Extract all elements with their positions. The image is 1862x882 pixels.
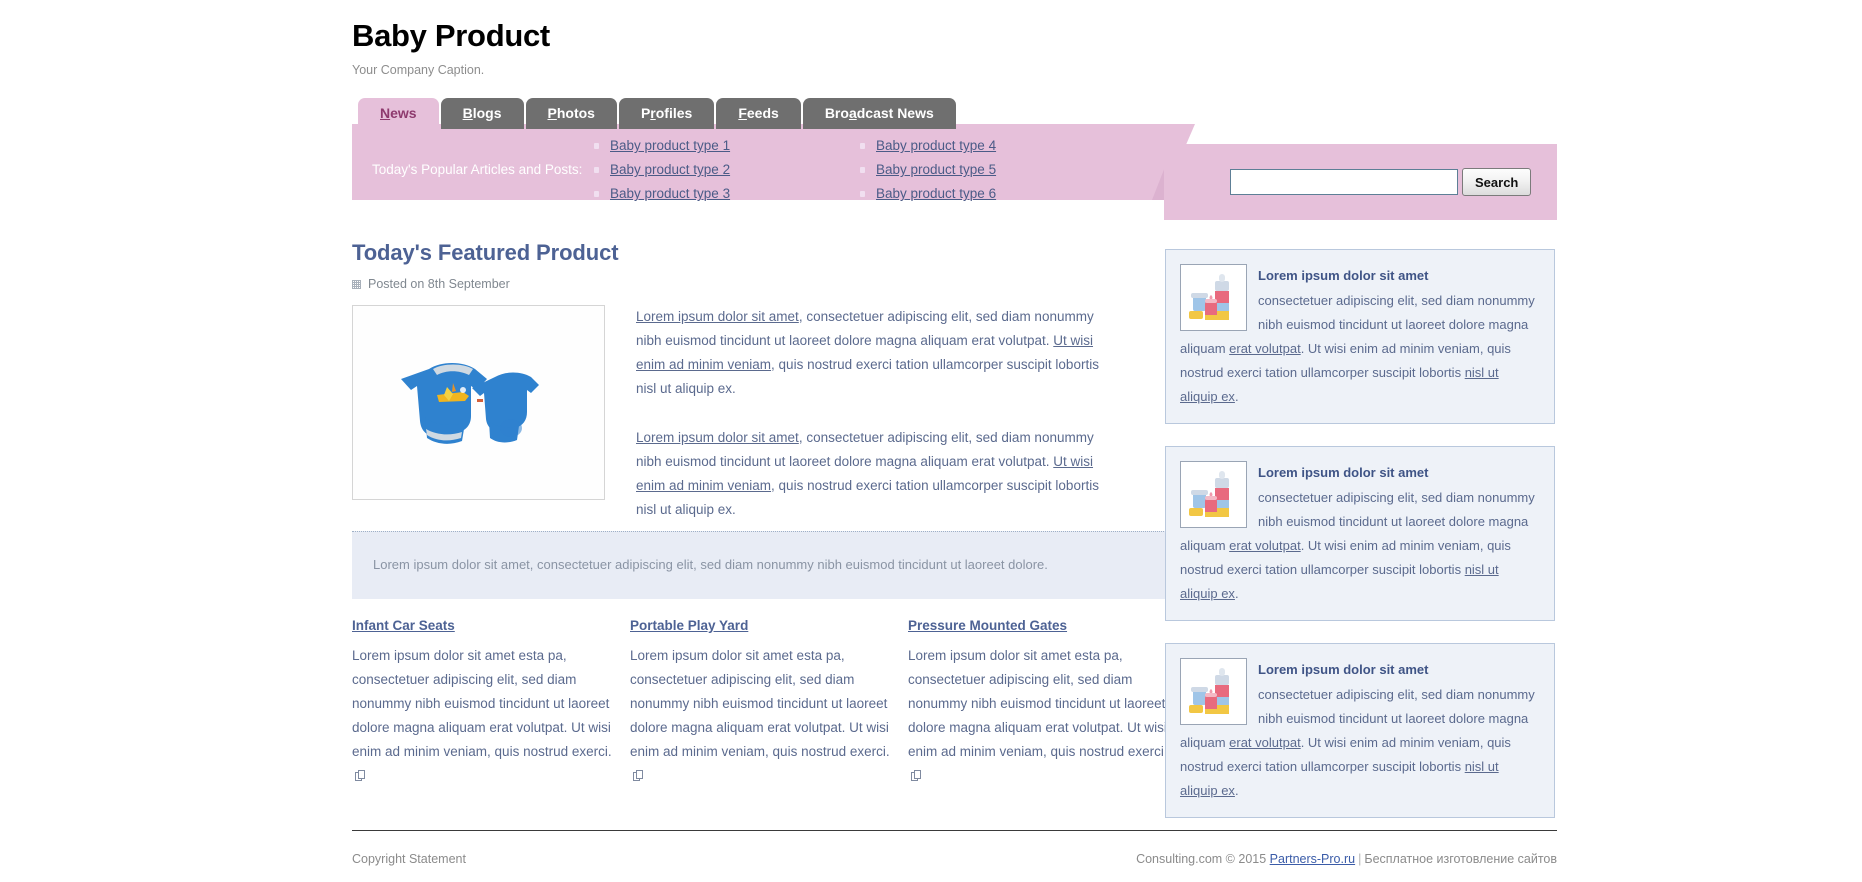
banner-links-column-2: Baby product type 4Baby product type 5Ba…	[860, 134, 996, 206]
baby-onesie-illustration	[399, 343, 559, 463]
banner-list-item: Baby product type 6	[860, 182, 996, 206]
feature-columns: Infant Car SeatsLorem ipsum dolor sit am…	[352, 618, 1187, 788]
sidebar-thumbnail	[1180, 461, 1247, 528]
sidebar-thumbnail	[1180, 658, 1247, 725]
feature-column-heading: Pressure Mounted Gates	[908, 618, 1168, 633]
search-button[interactable]: Search	[1462, 168, 1531, 196]
banner-list-item: Baby product type 3	[594, 182, 730, 206]
bullet-icon	[594, 191, 599, 197]
post-meta: Posted on 8th September	[352, 277, 1182, 291]
tab-label: Profiles	[641, 105, 692, 121]
banner-list-item: Baby product type 2	[594, 158, 730, 182]
page-root: Baby Product Your Company Caption. NewsB…	[0, 0, 1862, 882]
footer-credit-prefix: Consulting.com © 2015	[1136, 852, 1270, 866]
tab-label: Blogs	[463, 105, 502, 121]
site-header: Baby Product Your Company Caption.	[352, 18, 1562, 77]
tab-news[interactable]: News	[358, 98, 439, 129]
feature-column-heading: Infant Car Seats	[352, 618, 612, 633]
featured-product-image	[352, 305, 605, 500]
tab-blogs[interactable]: Blogs	[441, 98, 524, 129]
site-footer: Copyright Statement Consulting.com © 201…	[352, 852, 1557, 866]
page-title: Today's Featured Product	[352, 240, 1182, 266]
site-title: Baby Product	[352, 18, 1562, 54]
site-caption: Your Company Caption.	[352, 63, 1562, 77]
article-paragraph: Lorem ipsum dolor sit amet, consectetuer…	[636, 426, 1121, 522]
sidebar-inline-link[interactable]: erat volutpat	[1229, 538, 1301, 553]
tab-label: Feeds	[738, 105, 778, 121]
tab-photos[interactable]: Photos	[526, 98, 617, 129]
featured-article: Lorem ipsum dolor sit amet, consectetuer…	[352, 305, 1182, 522]
sidebar: Lorem ipsum dolor sit ametconsectetuer a…	[1165, 249, 1555, 818]
posted-date: Posted on 8th September	[368, 277, 510, 291]
feature-column-link[interactable]: Infant Car Seats	[352, 618, 455, 633]
quote-strip: Lorem ipsum dolor sit amet, consectetuer…	[352, 531, 1182, 599]
baby-bottles-illustration	[1181, 462, 1246, 527]
article-body: Lorem ipsum dolor sit amet, consectetuer…	[636, 305, 1121, 522]
feature-column-link[interactable]: Pressure Mounted Gates	[908, 618, 1067, 633]
sidebar-box: Lorem ipsum dolor sit ametconsectetuer a…	[1165, 249, 1555, 424]
sidebar-inline-link[interactable]: erat volutpat	[1229, 341, 1301, 356]
article-inline-link[interactable]: Ut wisi enim ad minim veniam	[636, 333, 1093, 372]
tab-feeds[interactable]: Feeds	[716, 98, 800, 129]
bullet-icon	[860, 143, 865, 149]
tab-label: News	[380, 105, 417, 121]
tab-broadcast-news[interactable]: Broadcast News	[803, 98, 956, 129]
baby-bottles-illustration	[1181, 265, 1246, 330]
feature-column-body: Lorem ipsum dolor sit amet esta pa, cons…	[630, 644, 890, 788]
bullet-icon	[860, 191, 865, 197]
banner-link[interactable]: Baby product type 1	[610, 138, 730, 153]
banner-link[interactable]: Baby product type 6	[876, 186, 996, 201]
bullet-icon	[594, 143, 599, 149]
sidebar-inline-link[interactable]: nisl ut aliquip ex	[1180, 562, 1499, 601]
tab-label: Broadcast News	[825, 105, 934, 121]
banner-list-item: Baby product type 5	[860, 158, 996, 182]
footer-divider	[352, 830, 1557, 831]
banner-list-item: Baby product type 1	[594, 134, 730, 158]
sidebar-box: Lorem ipsum dolor sit ametconsectetuer a…	[1165, 643, 1555, 818]
feature-column-link[interactable]: Portable Play Yard	[630, 618, 748, 633]
article-inline-link[interactable]: Lorem ipsum dolor sit amet	[636, 430, 799, 445]
calendar-icon	[352, 280, 361, 289]
search-form: Search	[1230, 168, 1531, 196]
footer-credit-separator: |	[1355, 852, 1364, 866]
sidebar-inline-link[interactable]: nisl ut aliquip ex	[1180, 365, 1499, 404]
banner-link[interactable]: Baby product type 2	[610, 162, 730, 177]
baby-bottles-illustration	[1181, 659, 1246, 724]
tab-profiles[interactable]: Profiles	[619, 98, 714, 129]
feature-column: Portable Play YardLorem ipsum dolor sit …	[630, 618, 890, 788]
sidebar-thumbnail	[1180, 264, 1247, 331]
feature-column-body: Lorem ipsum dolor sit amet esta pa, cons…	[908, 644, 1168, 788]
banner-link[interactable]: Baby product type 5	[876, 162, 996, 177]
main-content: Today's Featured Product Posted on 8th S…	[352, 240, 1182, 522]
search-input[interactable]	[1230, 169, 1458, 195]
banner-label: Today's Popular Articles and Posts:	[372, 162, 582, 177]
banner-link[interactable]: Baby product type 3	[610, 186, 730, 201]
bullet-icon	[860, 167, 865, 173]
read-more-icon[interactable]	[355, 770, 365, 781]
article-inline-link[interactable]: Lorem ipsum dolor sit amet	[636, 309, 799, 324]
banner-list-item: Baby product type 4	[860, 134, 996, 158]
banner-link[interactable]: Baby product type 4	[876, 138, 996, 153]
read-more-icon[interactable]	[633, 770, 643, 781]
feature-column-heading: Portable Play Yard	[630, 618, 890, 633]
feature-column: Pressure Mounted GatesLorem ipsum dolor …	[908, 618, 1168, 788]
tab-label: Photos	[548, 105, 595, 121]
footer-credit-suffix: Бесплатное изготовление сайтов	[1364, 852, 1557, 866]
article-inline-link[interactable]: Ut wisi enim ad minim veniam	[636, 454, 1093, 493]
bullet-icon	[594, 167, 599, 173]
footer-credit: Consulting.com © 2015 Partners-Pro.ru|Бе…	[1136, 852, 1557, 866]
feature-column: Infant Car SeatsLorem ipsum dolor sit am…	[352, 618, 612, 788]
footer-copyright: Copyright Statement	[352, 852, 466, 866]
main-navigation: NewsBlogsPhotosProfilesFeedsBroadcast Ne…	[358, 98, 956, 129]
sidebar-box: Lorem ipsum dolor sit ametconsectetuer a…	[1165, 446, 1555, 621]
sidebar-inline-link[interactable]: erat volutpat	[1229, 735, 1301, 750]
read-more-icon[interactable]	[911, 770, 921, 781]
quote-text: Lorem ipsum dolor sit amet, consectetuer…	[373, 555, 1161, 575]
banner-links-column-1: Baby product type 1Baby product type 2Ba…	[594, 134, 730, 206]
sidebar-inline-link[interactable]: nisl ut aliquip ex	[1180, 759, 1499, 798]
footer-credit-link[interactable]: Partners-Pro.ru	[1270, 852, 1355, 866]
article-paragraph: Lorem ipsum dolor sit amet, consectetuer…	[636, 305, 1121, 401]
feature-column-body: Lorem ipsum dolor sit amet esta pa, cons…	[352, 644, 612, 788]
